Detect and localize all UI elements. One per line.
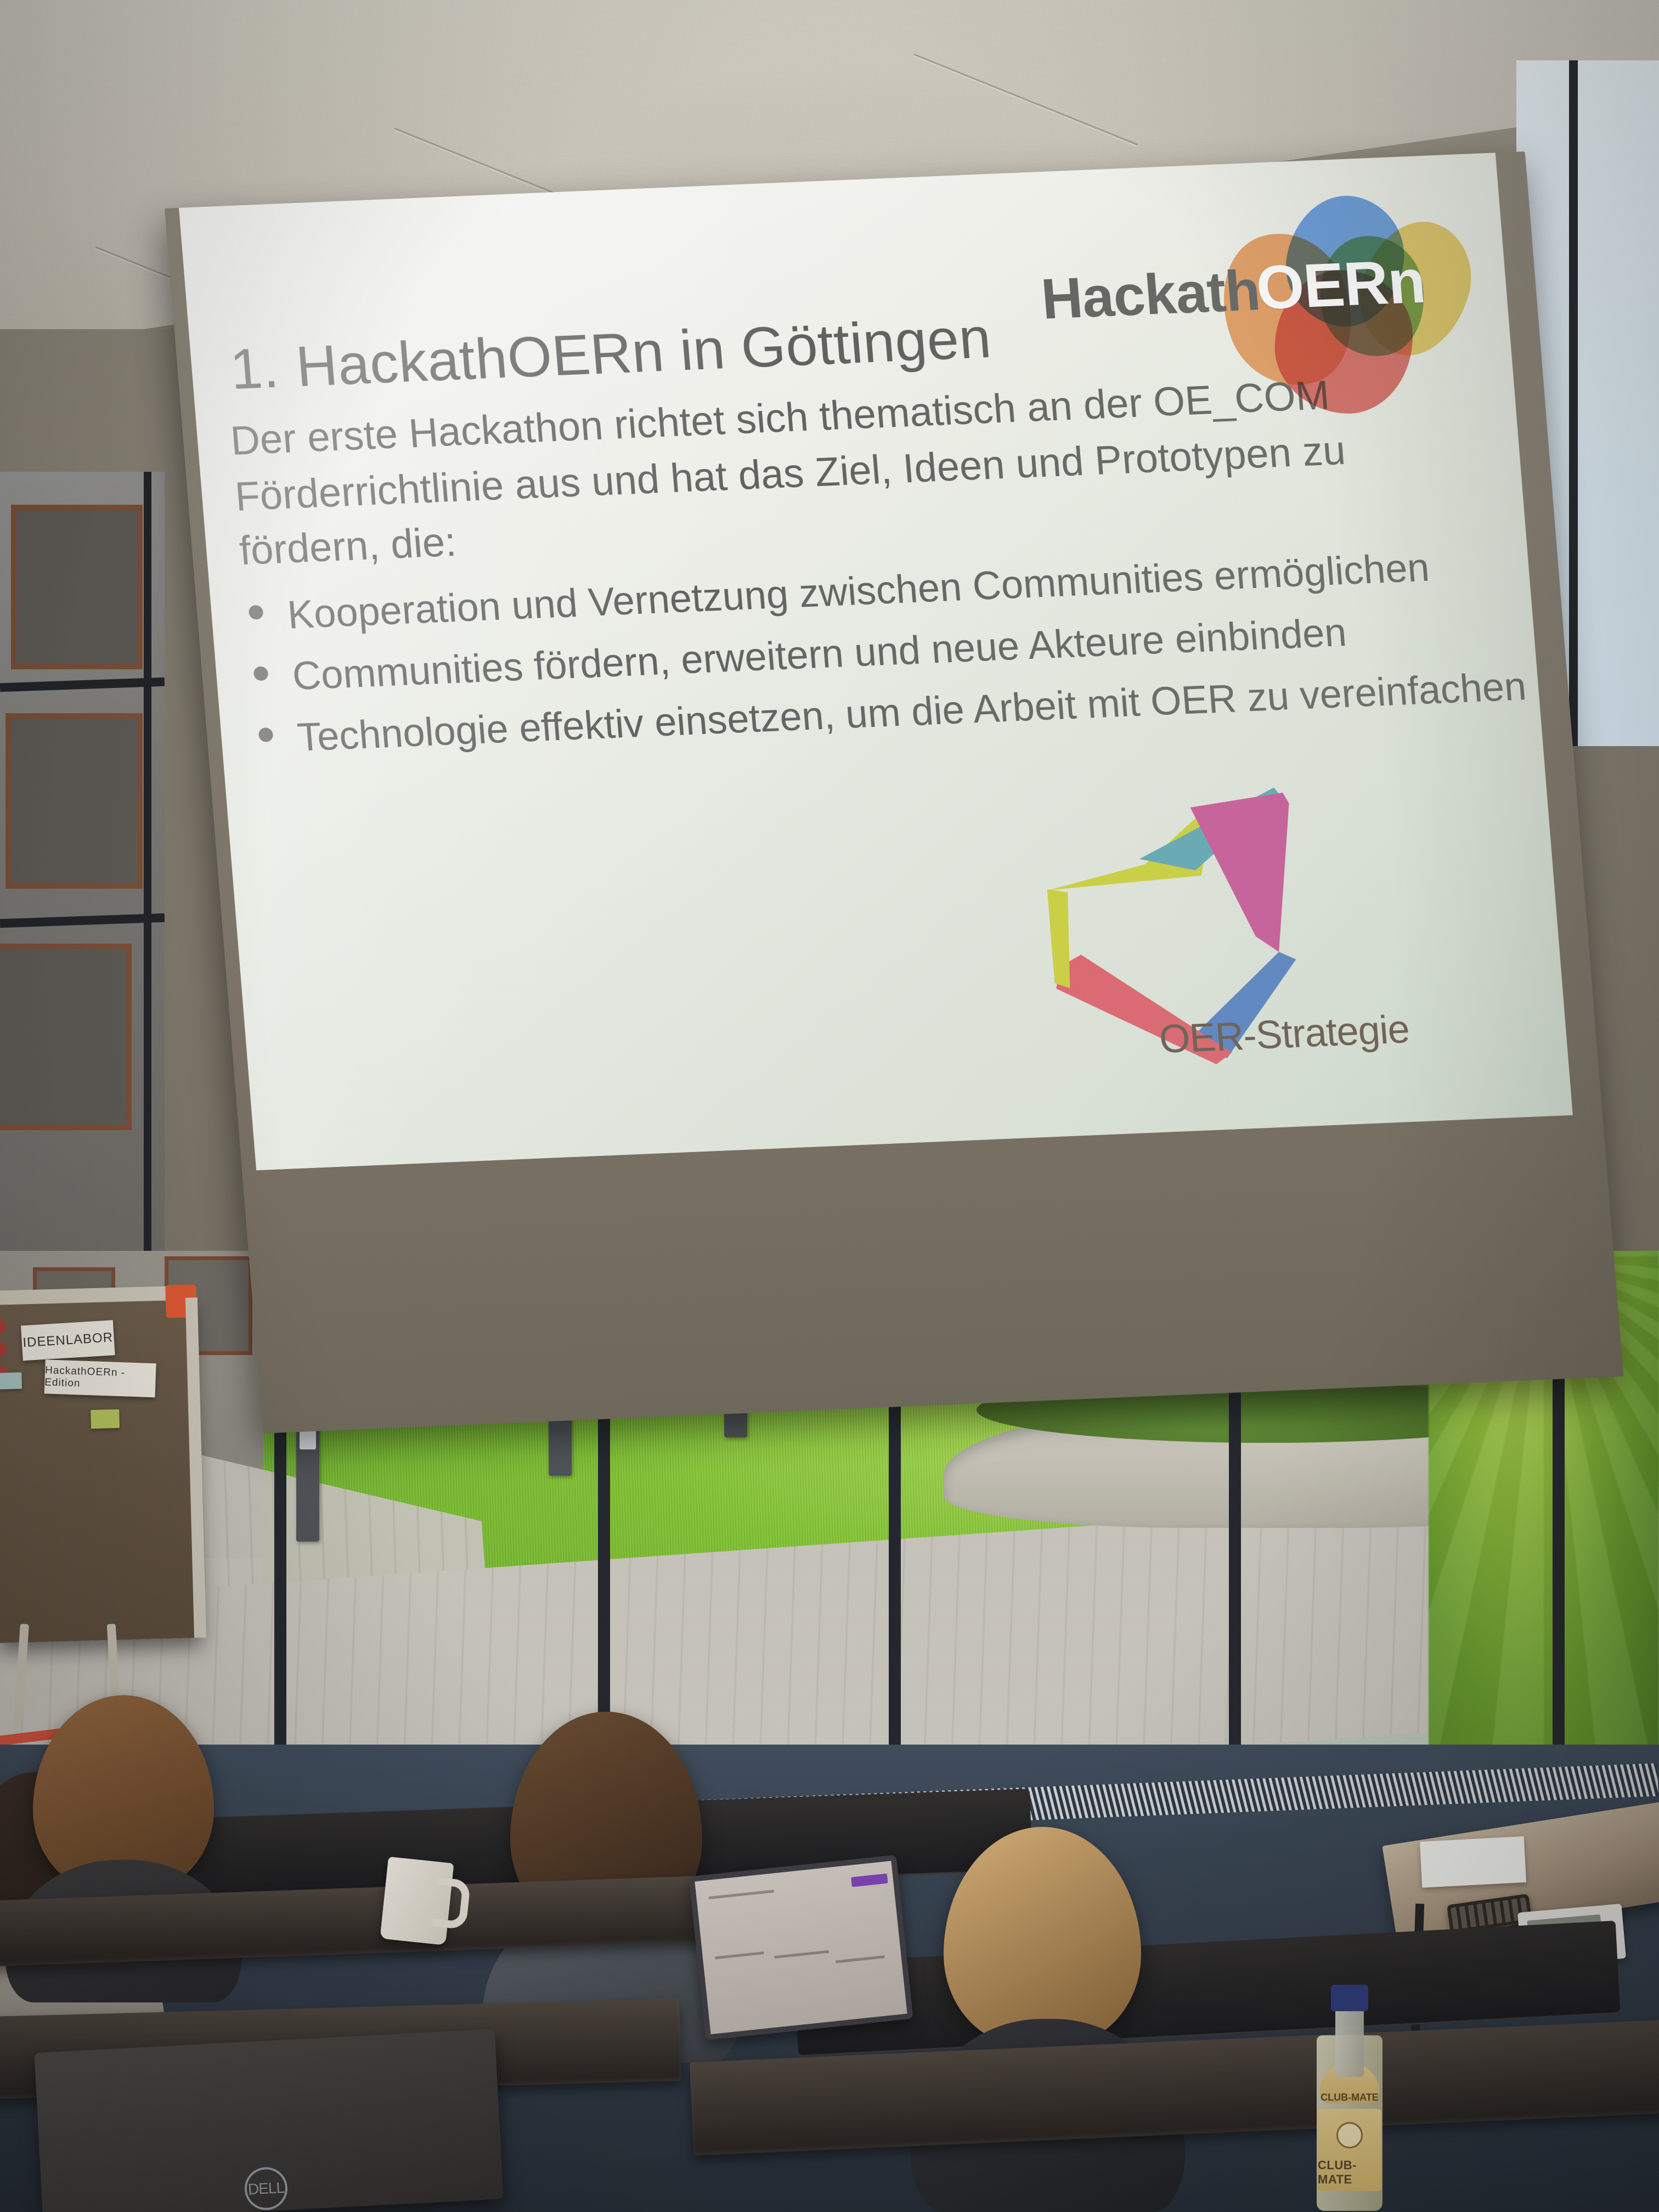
exterior-window: [5, 713, 143, 889]
slide-content: 1.HackathOERn in Göttingen Der erste Hac…: [179, 153, 1573, 1170]
paper-sheet: [1420, 1836, 1526, 1888]
projected-slide: 1.HackathOERn in Göttingen Der erste Hac…: [179, 153, 1573, 1170]
closed-laptop-dell[interactable]: DELL: [34, 2029, 503, 2212]
screen-highlight-badge: [851, 1874, 888, 1887]
projection-screen: 1.HackathOERn in Göttingen Der erste Hac…: [165, 151, 1623, 1434]
open-laptop[interactable]: [689, 1855, 913, 2040]
sticky-note: [91, 1409, 120, 1429]
glass-transom: [0, 913, 165, 928]
pinboard-sign-ideenlabor: IDEENLABOR: [21, 1320, 115, 1361]
slide-bullet-list: Kooperation und Vernetzung zwischen Comm…: [242, 537, 1514, 774]
logo-wordmark-dark: Hackath: [1039, 258, 1262, 332]
lecture-hall-photo: 1.HackathOERn in Göttingen Der erste Hac…: [0, 0, 1659, 2212]
bottle-emblem-icon: [1336, 2122, 1363, 2148]
glass-transom: [0, 678, 165, 692]
page-title: HackathOERn in Göttingen: [294, 306, 994, 399]
pinboard-sign-hackathoern-edition: HackathOERn - Edition: [44, 1359, 156, 1397]
hackathoern-logo: Hackath OERn: [1034, 185, 1464, 367]
window-mullion: [1569, 60, 1578, 746]
bottle-label: CLUB-MATE: [1318, 2109, 1381, 2191]
stand-leg: [13, 1624, 29, 1734]
oer-strategie-logo: OER-Strategie: [1029, 771, 1427, 1093]
glass-mullion: [144, 472, 151, 1328]
bottle-cap: [1331, 1985, 1368, 2011]
bollard-light: [296, 1415, 319, 1542]
club-mate-bottle: CLUB-MATE CLUB-MATE: [1317, 1980, 1383, 2211]
slide-title-number: 1.: [228, 335, 299, 403]
logo-wordmark-light: OERn: [1254, 246, 1427, 323]
pinboard: IDEENLABOR HackathOERn - Edition: [0, 1297, 202, 1643]
coffee-mug: [380, 1857, 454, 1945]
sticky-note: [0, 1372, 22, 1389]
laptop-screen[interactable]: [695, 1861, 907, 2034]
exterior-window: [0, 944, 132, 1130]
bottle-neck: [1335, 2006, 1364, 2077]
dell-logo-icon: DELL: [244, 2166, 289, 2211]
exterior-window: [11, 505, 143, 669]
left-glass-wall: [0, 472, 165, 1328]
